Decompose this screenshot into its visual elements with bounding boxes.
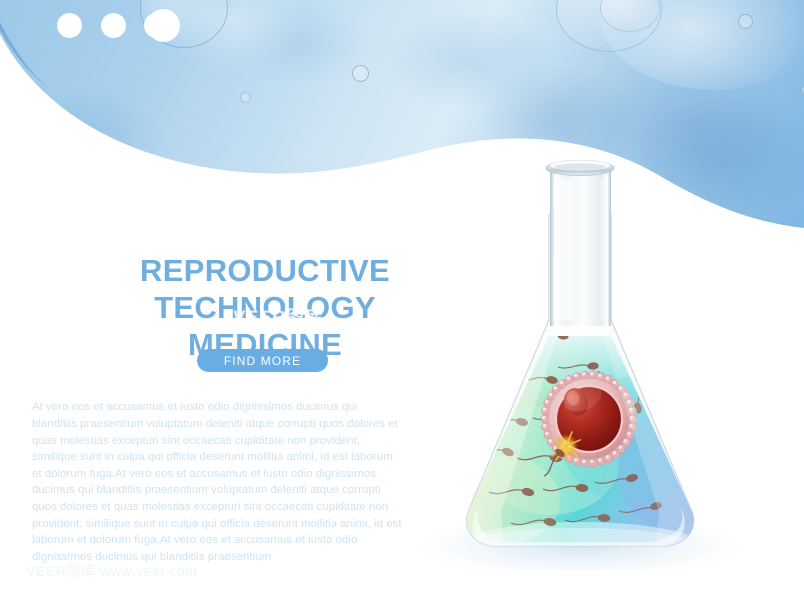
body-paragraph: At vero eos et accusamus et iusto odio d… xyxy=(32,399,404,565)
poster-canvas: REPRODUCTIVE TECHNOLOGY MEDICINE VEER图库 … xyxy=(0,0,804,590)
flask-neck xyxy=(546,160,614,326)
find-more-button[interactable]: FIND MORE xyxy=(197,349,328,372)
flask-illustration xyxy=(400,140,800,570)
